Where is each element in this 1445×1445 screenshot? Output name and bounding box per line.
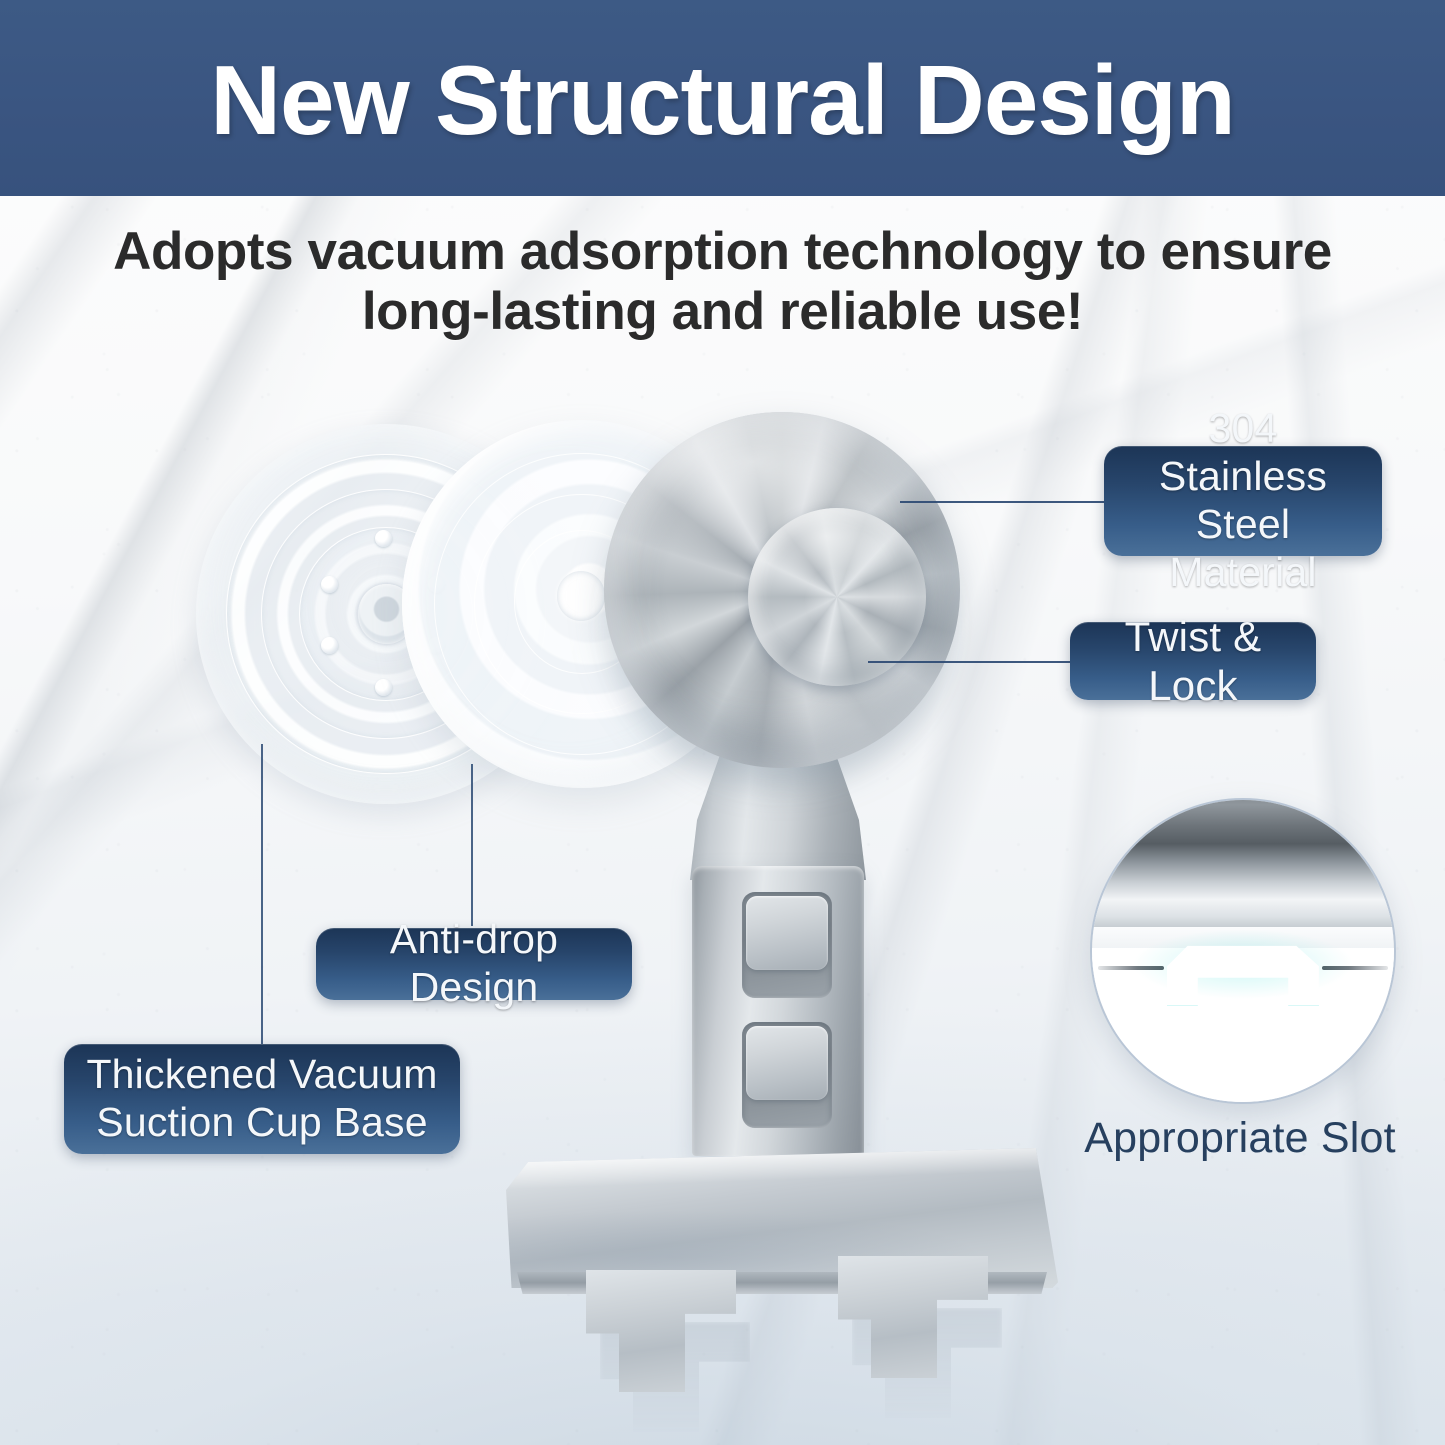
subtitle-line-1: Adopts vacuum adsorption technology to e… bbox=[0, 222, 1445, 282]
leader-line-steel bbox=[900, 501, 1112, 503]
callout-thickened-line-2: Suction Cup Base bbox=[96, 1099, 427, 1145]
callout-steel-line-2: Steel Material bbox=[1169, 501, 1316, 595]
leader-line-twist bbox=[868, 661, 1080, 663]
callout-badge-steel[interactable]: 304 Stainless Steel Material bbox=[1104, 446, 1382, 556]
suction-cup-bump bbox=[375, 679, 392, 696]
twist-cap-sheen bbox=[748, 508, 926, 686]
leader-line-thickened bbox=[261, 744, 263, 1050]
callout-badge-antidrop-label: Anti-drop Design bbox=[338, 916, 610, 1012]
callout-badge-thickened-label: Thickened Vacuum Suction Cup Base bbox=[86, 1051, 437, 1147]
slot-detail-inset bbox=[1090, 798, 1396, 1104]
suction-cup-bump bbox=[375, 530, 392, 547]
twist-and-lock-cap bbox=[748, 508, 926, 686]
inner-disc-center-hole bbox=[557, 571, 606, 621]
callout-badge-twist[interactable]: Twist & Lock bbox=[1070, 622, 1316, 700]
inset-caption: Appropriate Slot bbox=[1030, 1114, 1445, 1163]
leader-line-antidrop bbox=[471, 764, 473, 926]
callout-thickened-line-1: Thickened Vacuum bbox=[86, 1051, 437, 1097]
callout-badge-thickened[interactable]: Thickened Vacuum Suction Cup Base bbox=[64, 1044, 460, 1154]
header-banner: New Structural Design bbox=[0, 0, 1445, 196]
callout-badge-twist-label: Twist & Lock bbox=[1092, 612, 1294, 710]
callout-badge-antidrop[interactable]: Anti-drop Design bbox=[316, 928, 632, 1000]
stem-slot-upper-face bbox=[746, 896, 828, 970]
product-illustration bbox=[0, 0, 1445, 1445]
callout-steel-line-1: 304 Stainless bbox=[1159, 405, 1327, 499]
subtitle-line-2: long-lasting and reliable use! bbox=[0, 282, 1445, 342]
page-title: New Structural Design bbox=[210, 51, 1235, 149]
stem-slot-lower-face bbox=[746, 1026, 828, 1100]
callout-badge-steel-label: 304 Stainless Steel Material bbox=[1126, 405, 1360, 597]
stem-slot-lower bbox=[742, 1022, 832, 1128]
stem-slot-upper bbox=[742, 892, 832, 998]
infographic-canvas: 304 Stainless Steel Material Twist & Loc… bbox=[0, 0, 1445, 1445]
subtitle: Adopts vacuum adsorption technology to e… bbox=[0, 222, 1445, 343]
